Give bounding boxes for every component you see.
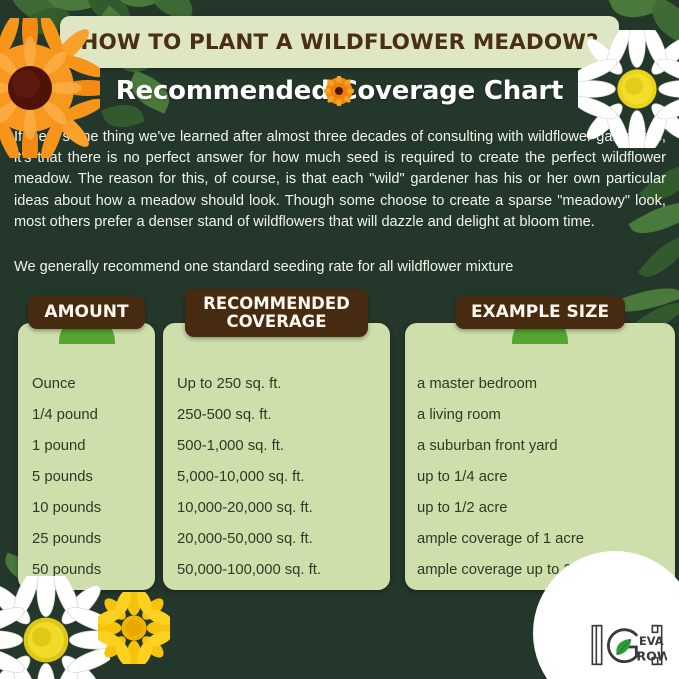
table-cell: Ounce: [32, 369, 141, 400]
yellow-flower-bottom-left: [98, 592, 170, 664]
evagrow-logo[interactable]: EVA ROW: [587, 619, 667, 671]
table-cell: 250-500 sq. ft.: [177, 400, 376, 431]
table-cell: 50,000-100,000 sq. ft.: [177, 555, 376, 586]
table-cell: 1 pound: [32, 431, 141, 462]
white-daisy-bottom-left: [0, 576, 110, 679]
infographic-canvas: HOW TO PLANT A WILDFLOWER MEADOW? Recomm…: [0, 0, 679, 679]
logo-text-eva: EVA: [639, 634, 664, 648]
table-cell: a living room: [417, 400, 661, 431]
title-banner: HOW TO PLANT A WILDFLOWER MEADOW?: [60, 16, 619, 68]
table-cell: 25 pounds: [32, 524, 141, 555]
column-example-size: EXAMPLE SIZE a master bedroom a living r…: [405, 323, 675, 590]
header-wrap-coverage: RECOMMENDED COVERAGE: [163, 289, 390, 337]
intro-paragraph-1: If there's one thing we've learned after…: [14, 127, 666, 233]
white-daisy-top-right: [578, 30, 679, 148]
column-header-recommended-coverage: RECOMMENDED COVERAGE: [185, 289, 368, 337]
table-cell: a master bedroom: [417, 369, 661, 400]
table-cell: up to 1/4 acre: [417, 462, 661, 493]
page-title: HOW TO PLANT A WILDFLOWER MEADOW?: [80, 30, 598, 55]
logo-text-row: ROW: [636, 648, 667, 663]
intro-paragraph-2: We generally recommend one standard seed…: [14, 257, 666, 278]
table-cell: a suburban front yard: [417, 431, 661, 462]
table-cell: 5,000-10,000 sq. ft.: [177, 462, 376, 493]
table-cell: 20,000-50,000 sq. ft.: [177, 524, 376, 555]
column-amount: AMOUNT Ounce 1/4 pound 1 pound 5 pounds …: [18, 323, 155, 590]
small-orange-flower-icon: [324, 76, 354, 106]
column-header-amount: AMOUNT: [28, 296, 144, 329]
header-wrap-example: EXAMPLE SIZE: [405, 296, 675, 329]
table-cell: 10 pounds: [32, 493, 141, 524]
orange-flower-large: [0, 18, 100, 158]
table-cell: up to 1/2 acre: [417, 493, 661, 524]
table-cell: 1/4 pound: [32, 400, 141, 431]
table-cell: 10,000-20,000 sq. ft.: [177, 493, 376, 524]
rows-coverage: Up to 250 sq. ft. 250-500 sq. ft. 500-1,…: [163, 369, 390, 586]
rows-amount: Ounce 1/4 pound 1 pound 5 pounds 10 poun…: [18, 369, 155, 586]
table-cell: ample coverage of 1 acre: [417, 524, 661, 555]
table-cell: 500-1,000 sq. ft.: [177, 431, 376, 462]
table-cell: 5 pounds: [32, 462, 141, 493]
column-recommended-coverage: RECOMMENDED COVERAGE Up to 250 sq. ft. 2…: [163, 323, 390, 590]
table-cell: Up to 250 sq. ft.: [177, 369, 376, 400]
header-wrap-amount: AMOUNT: [18, 296, 155, 329]
column-header-example-size: EXAMPLE SIZE: [455, 296, 625, 329]
